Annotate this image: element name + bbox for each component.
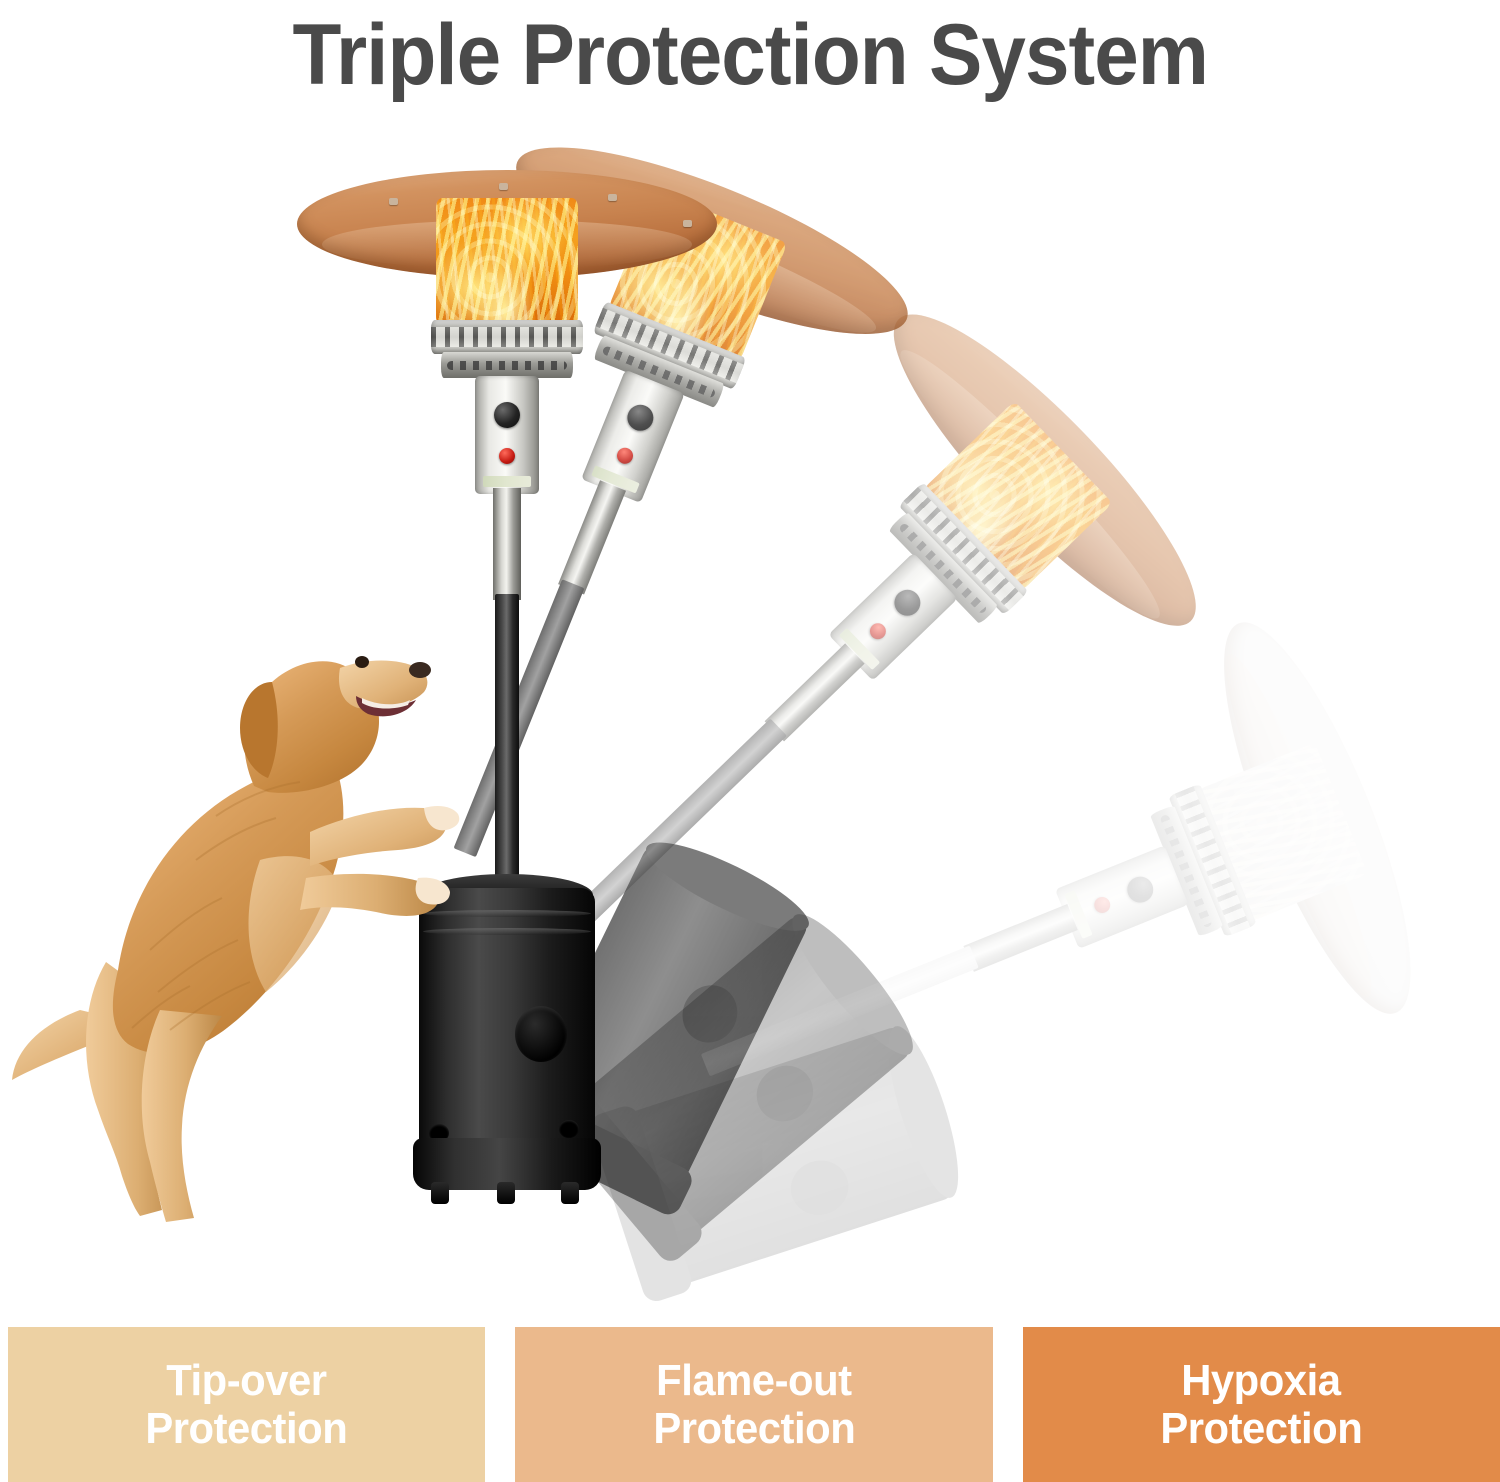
pole-lower — [495, 594, 519, 884]
banner-flame-out-line2: Protection — [653, 1405, 855, 1453]
ignition-button[interactable] — [499, 448, 515, 464]
page-title: Triple Protection System — [292, 12, 1207, 98]
banner-flame-out: Flame-out Protection — [515, 1327, 992, 1482]
control-panel — [475, 376, 539, 494]
burner-slats — [431, 327, 583, 347]
banner-flame-out-line1: Flame-out — [656, 1357, 851, 1405]
dome-bolt-icon — [389, 198, 398, 205]
banner-hypoxia-line1: Hypoxia — [1182, 1357, 1341, 1405]
dome-bolt-icon — [683, 220, 692, 227]
dog-ear — [240, 682, 278, 778]
caster-wheel — [561, 1182, 579, 1204]
product-illustration — [0, 110, 1500, 1327]
page-title-bar: Triple Protection System — [0, 0, 1500, 110]
pole-upper — [493, 488, 521, 600]
control-knob[interactable] — [494, 402, 520, 428]
flame-cylinder — [436, 198, 578, 326]
dog-paw-near — [416, 878, 450, 905]
protection-banner-row: Tip-over Protection Flame-out Protection… — [0, 1327, 1500, 1482]
dog-eye — [355, 656, 369, 668]
burner-housing — [431, 320, 583, 354]
banner-tip-over-line1: Tip-over — [166, 1357, 326, 1405]
rating-label — [483, 476, 531, 487]
tank-access-port — [515, 1006, 567, 1062]
golden-retriever-dog — [10, 610, 480, 1230]
burner-lower — [441, 352, 573, 378]
tank-vent-hole — [559, 1120, 579, 1138]
caster-wheel — [497, 1182, 515, 1204]
burner-vents — [447, 361, 567, 370]
dome-bolt-icon — [499, 183, 508, 190]
banner-tip-over: Tip-over Protection — [8, 1327, 485, 1482]
banner-hypoxia: Hypoxia Protection — [1023, 1327, 1500, 1482]
dog-nose — [409, 662, 431, 678]
banner-hypoxia-line2: Protection — [1160, 1405, 1362, 1453]
dome-bolt-icon — [608, 194, 617, 201]
banner-tip-over-line2: Protection — [146, 1405, 348, 1453]
